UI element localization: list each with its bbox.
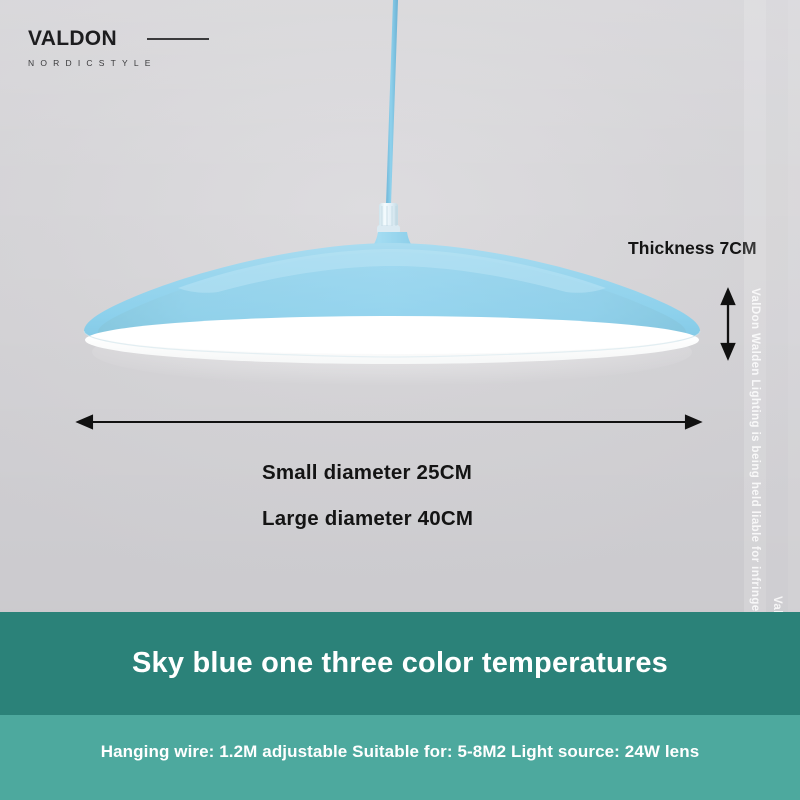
watermark-text: ValDon Walden Lighting is being held lia… bbox=[749, 288, 761, 645]
light-glow bbox=[92, 318, 692, 386]
headline-text: Sky blue one three color temperatures bbox=[132, 647, 668, 680]
small-diameter-label: Small diameter 25CM bbox=[262, 461, 472, 485]
brand-logo: VALDON NORDICSTYLE bbox=[28, 28, 328, 68]
thickness-arrow bbox=[722, 290, 734, 358]
headline-banner: Sky blue one three color temperatures bbox=[0, 612, 800, 715]
large-diameter-label: Large diameter 40CM bbox=[262, 507, 473, 531]
brand-divider-rule bbox=[147, 38, 209, 40]
hanging-cord bbox=[386, 0, 398, 205]
brand-logo-row: VALDON bbox=[28, 28, 328, 49]
lamp-socket bbox=[377, 203, 400, 234]
spec-text: Hanging wire: 1.2M adjustable Suitable f… bbox=[101, 742, 700, 762]
diameter-arrow bbox=[78, 416, 700, 428]
brand-tagline: NORDICSTYLE bbox=[28, 59, 328, 68]
brand-name: VALDON bbox=[28, 28, 117, 49]
thickness-label: Thickness 7CM bbox=[628, 238, 757, 259]
spec-banner: Hanging wire: 1.2M adjustable Suitable f… bbox=[0, 715, 800, 800]
product-image-canvas: VALDON NORDICSTYLE Thickness 7CM Small d… bbox=[0, 0, 800, 800]
